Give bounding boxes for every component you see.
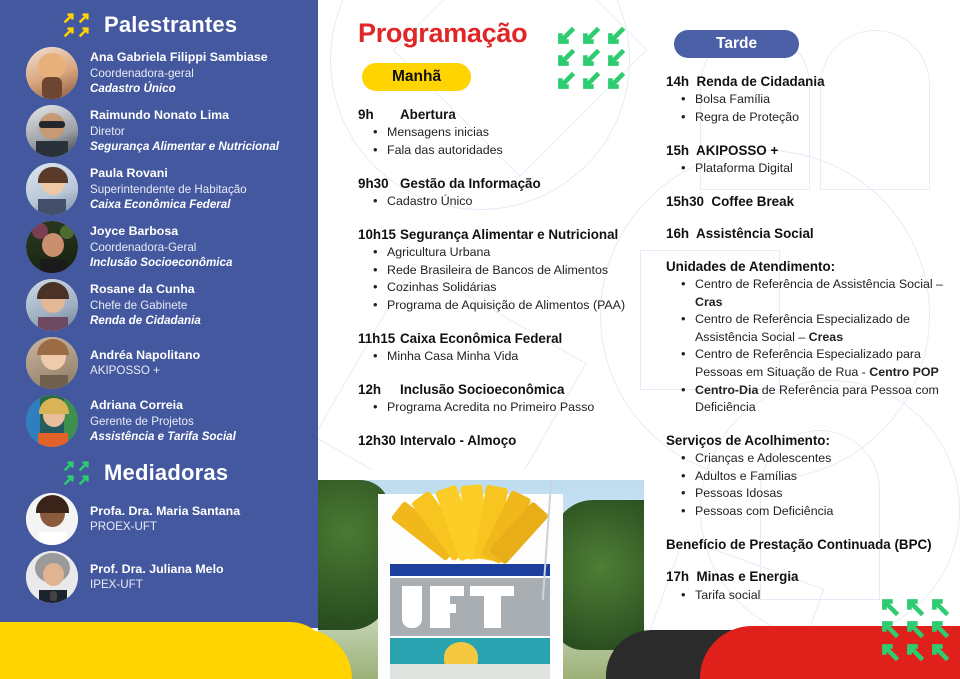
speaker-role: Coordenadora-Geral <box>90 240 232 255</box>
avatar <box>26 163 78 215</box>
list-item: Centro de Referência Especializado de As… <box>680 311 960 346</box>
speaker-name: Raimundo Nonato Lima <box>90 108 279 124</box>
arrows-down-left-icon <box>556 24 628 88</box>
slot-items: Bolsa Família Regra de Proteção <box>680 91 960 126</box>
afternoon-column: Tarde 14h Renda de Cidadania Bolsa Famíl… <box>660 0 960 604</box>
slot-title: Segurança Alimentar e Nutricional <box>400 227 618 242</box>
slot-title: Minas e Energia <box>697 569 799 584</box>
speaker-name: Ana Gabriela Filippi Sambiase <box>90 50 268 66</box>
speaker-org: Renda de Cidadania <box>90 313 201 328</box>
avatar <box>26 395 78 447</box>
mediator-role: PROEX-UFT <box>90 519 240 534</box>
list-item: Cadastro Único <box>372 193 644 211</box>
schedule-slot: 9h30Gestão da Informação Cadastro Único <box>358 175 644 211</box>
slot-time: 10h15 <box>358 226 400 243</box>
list-item: Plataforma Digital <box>680 160 960 178</box>
unit-abbr: Centro POP <box>869 365 939 379</box>
speaker-name: Paula Rovani <box>90 166 247 182</box>
afternoon-pill: Tarde <box>674 30 799 58</box>
mediator-name: Profa. Dra. Maria Santana <box>90 504 240 520</box>
program-column: Programação Manhã 9hAbertura Mensagens i… <box>334 0 644 449</box>
slot-title: Inclusão Socioeconômica <box>400 382 564 397</box>
slot-title: Renda de Cidadania <box>697 74 825 89</box>
unit-abbr: Creas <box>809 330 843 344</box>
unit-abbr: Centro-Dia <box>695 383 758 397</box>
slot-time: 15h <box>666 143 689 158</box>
speaker-name: Joyce Barbosa <box>90 224 232 240</box>
slot-items: Cadastro Único <box>372 193 644 211</box>
list-item: Centro de Referência de Assistência Soci… <box>680 276 960 311</box>
services-list: Crianças e Adolescentes Adultos e Famíli… <box>680 450 960 520</box>
schedule-slot: 15h AKIPOSSO + Plataforma Digital <box>666 142 960 178</box>
slot-title: Caixa Econômica Federal <box>400 331 562 346</box>
mediators-header: Mediadoras <box>0 450 318 490</box>
list-item: Crianças e Adolescentes <box>680 450 960 468</box>
slot-time: 9h <box>358 106 400 123</box>
bpc-group: Benefício de Prestação Continuada (BPC) <box>666 536 960 553</box>
flyer-page: Palestrantes Ana Gabriela Filippi Sambia… <box>0 0 960 679</box>
schedule-slot: 9hAbertura Mensagens inicias Fala das au… <box>358 106 644 160</box>
list-item: Raimundo Nonato Lima Diretor Segurança A… <box>0 102 318 160</box>
list-item: Minha Casa Minha Vida <box>372 348 644 366</box>
bpc-text: Benefício de Prestação Continuada (BPC) <box>666 536 960 553</box>
schedule-slot: 12h30Intervalo - Almoço <box>358 432 644 449</box>
list-item: Centro-Dia de Referência para Pessoa com… <box>680 382 960 417</box>
mediator-role: IPEX-UFT <box>90 577 224 592</box>
speaker-role: Diretor <box>90 124 279 139</box>
list-item: Mensagens inicias <box>372 124 644 142</box>
list-item: Rosane da Cunha Chefe de Gabinete Renda … <box>0 276 318 334</box>
avatar <box>26 337 78 389</box>
speaker-role: Coordenadora-geral <box>90 66 268 81</box>
list-item: Bolsa Família <box>680 91 960 109</box>
speakers-header: Palestrantes <box>0 0 318 44</box>
speaker-name: Adriana Correia <box>90 398 236 414</box>
speaker-role: Gerente de Projetos <box>90 414 236 429</box>
list-item: Cozinhas Solidárias <box>372 279 644 297</box>
morning-pill: Manhã <box>362 63 471 91</box>
list-item: Pessoas com Deficiência <box>680 503 960 521</box>
slot-title: Intervalo - Almoço <box>400 433 516 448</box>
avatar <box>26 221 78 273</box>
schedule-slot: 14h Renda de Cidadania Bolsa Família Reg… <box>666 73 960 127</box>
list-item: Centro de Referência Especializado para … <box>680 346 960 381</box>
speaker-role: Chefe de Gabinete <box>90 298 201 313</box>
list-item: Regra de Proteção <box>680 109 960 127</box>
speaker-role: Superintendente de Habitação <box>90 182 247 197</box>
unit-text: Centro de Referência de Assistência Soci… <box>695 277 943 291</box>
units-list: Centro de Referência de Assistência Soci… <box>680 276 960 417</box>
avatar <box>26 279 78 331</box>
avatar <box>26 105 78 157</box>
slot-time: 14h <box>666 74 689 89</box>
uft-photo <box>318 480 644 679</box>
slot-items: Programa Acredita no Primeiro Passo <box>372 399 644 417</box>
speaker-org: Assistência e Tarifa Social <box>90 429 236 444</box>
services-heading: Serviços de Acolhimento: <box>666 432 960 449</box>
speaker-role: AKIPOSSO + <box>90 363 200 378</box>
slot-items: Agricultura Urbana Rede Brasileira de Ba… <box>372 244 644 314</box>
avatar <box>26 493 78 545</box>
slot-time: 9h30 <box>358 175 400 192</box>
arrows-up-left-icon <box>880 597 952 661</box>
list-item: Ana Gabriela Filippi Sambiase Coordenado… <box>0 44 318 102</box>
speakers-heading: Palestrantes <box>104 12 237 38</box>
slot-title: Coffee Break <box>711 194 794 209</box>
sidebar: Palestrantes Ana Gabriela Filippi Sambia… <box>0 0 318 628</box>
uft-photo-panel <box>318 470 644 679</box>
slot-title: Assistência Social <box>696 226 814 241</box>
list-item: Programa Acredita no Primeiro Passo <box>372 399 644 417</box>
afternoon-slots: 14h Renda de Cidadania Bolsa Família Reg… <box>666 73 960 604</box>
slot-items: Minha Casa Minha Vida <box>372 348 644 366</box>
morning-slots: 9hAbertura Mensagens inicias Fala das au… <box>358 106 644 449</box>
slot-items: Mensagens inicias Fala das autoridades <box>372 124 644 159</box>
schedule-slot: 16h Assistência Social <box>666 225 960 242</box>
slot-time: 16h <box>666 226 689 241</box>
list-item: Joyce Barbosa Coordenadora-Geral Inclusã… <box>0 218 318 276</box>
slot-time: 15h30 <box>666 194 704 209</box>
list-item: Adriana Correia Gerente de Projetos Assi… <box>0 392 318 450</box>
units-group: Unidades de Atendimento: Centro de Refer… <box>666 258 960 417</box>
list-item: Adultos e Famílias <box>680 468 960 486</box>
list-item: Profa. Dra. Maria Santana PROEX-UFT <box>0 490 318 548</box>
schedule-slot: 15h30 Coffee Break <box>666 193 960 210</box>
list-item: Programa de Aquisição de Alimentos (PAA) <box>372 297 644 315</box>
list-item: Andréa Napolitano AKIPOSSO + <box>0 334 318 392</box>
mediator-name: Prof. Dra. Juliana Melo <box>90 562 224 578</box>
schedule-slot: 12hInclusão Socioeconômica Programa Acre… <box>358 381 644 417</box>
unit-abbr: Cras <box>695 295 723 309</box>
yellow-shape-center <box>186 629 352 679</box>
list-item: Rede Brasileira de Bancos de Alimentos <box>372 262 644 280</box>
slot-time: 11h15 <box>358 330 400 347</box>
services-group: Serviços de Acolhimento: Crianças e Adol… <box>666 432 960 521</box>
avatar <box>26 47 78 99</box>
schedule-slot: 11h15Caixa Econômica Federal Minha Casa … <box>358 330 644 366</box>
unit-text: Centro de Referência Especializado de As… <box>695 312 910 344</box>
units-heading: Unidades de Atendimento: <box>666 258 960 275</box>
slot-title: AKIPOSSO + <box>696 143 778 158</box>
speaker-org: Inclusão Socioeconômica <box>90 255 232 270</box>
list-item: Agricultura Urbana <box>372 244 644 262</box>
schedule-slot: 10h15Segurança Alimentar e Nutricional A… <box>358 226 644 315</box>
avatar <box>26 551 78 603</box>
slot-time: 17h <box>666 569 689 584</box>
arrows-up-right-icon <box>62 460 90 486</box>
speaker-name: Rosane da Cunha <box>90 282 201 298</box>
list-item: Fala das autoridades <box>372 142 644 160</box>
speaker-org: Segurança Alimentar e Nutricional <box>90 139 279 154</box>
slot-time: 12h <box>358 381 400 398</box>
list-item: Pessoas Idosas <box>680 485 960 503</box>
slot-items: Plataforma Digital <box>680 160 960 178</box>
speaker-name: Andréa Napolitano <box>90 348 200 364</box>
slot-title: Gestão da Informação <box>400 176 541 191</box>
mediators-heading: Mediadoras <box>104 460 228 486</box>
speaker-org: Cadastro Único <box>90 81 268 96</box>
list-item: Paula Rovani Superintendente de Habitaçã… <box>0 160 318 218</box>
speaker-org: Caixa Econômica Federal <box>90 197 247 212</box>
slot-time: 12h30 <box>358 432 400 449</box>
list-item: Prof. Dra. Juliana Melo IPEX-UFT <box>0 548 318 606</box>
slot-title: Abertura <box>400 107 456 122</box>
arrows-up-right-icon <box>62 12 90 38</box>
